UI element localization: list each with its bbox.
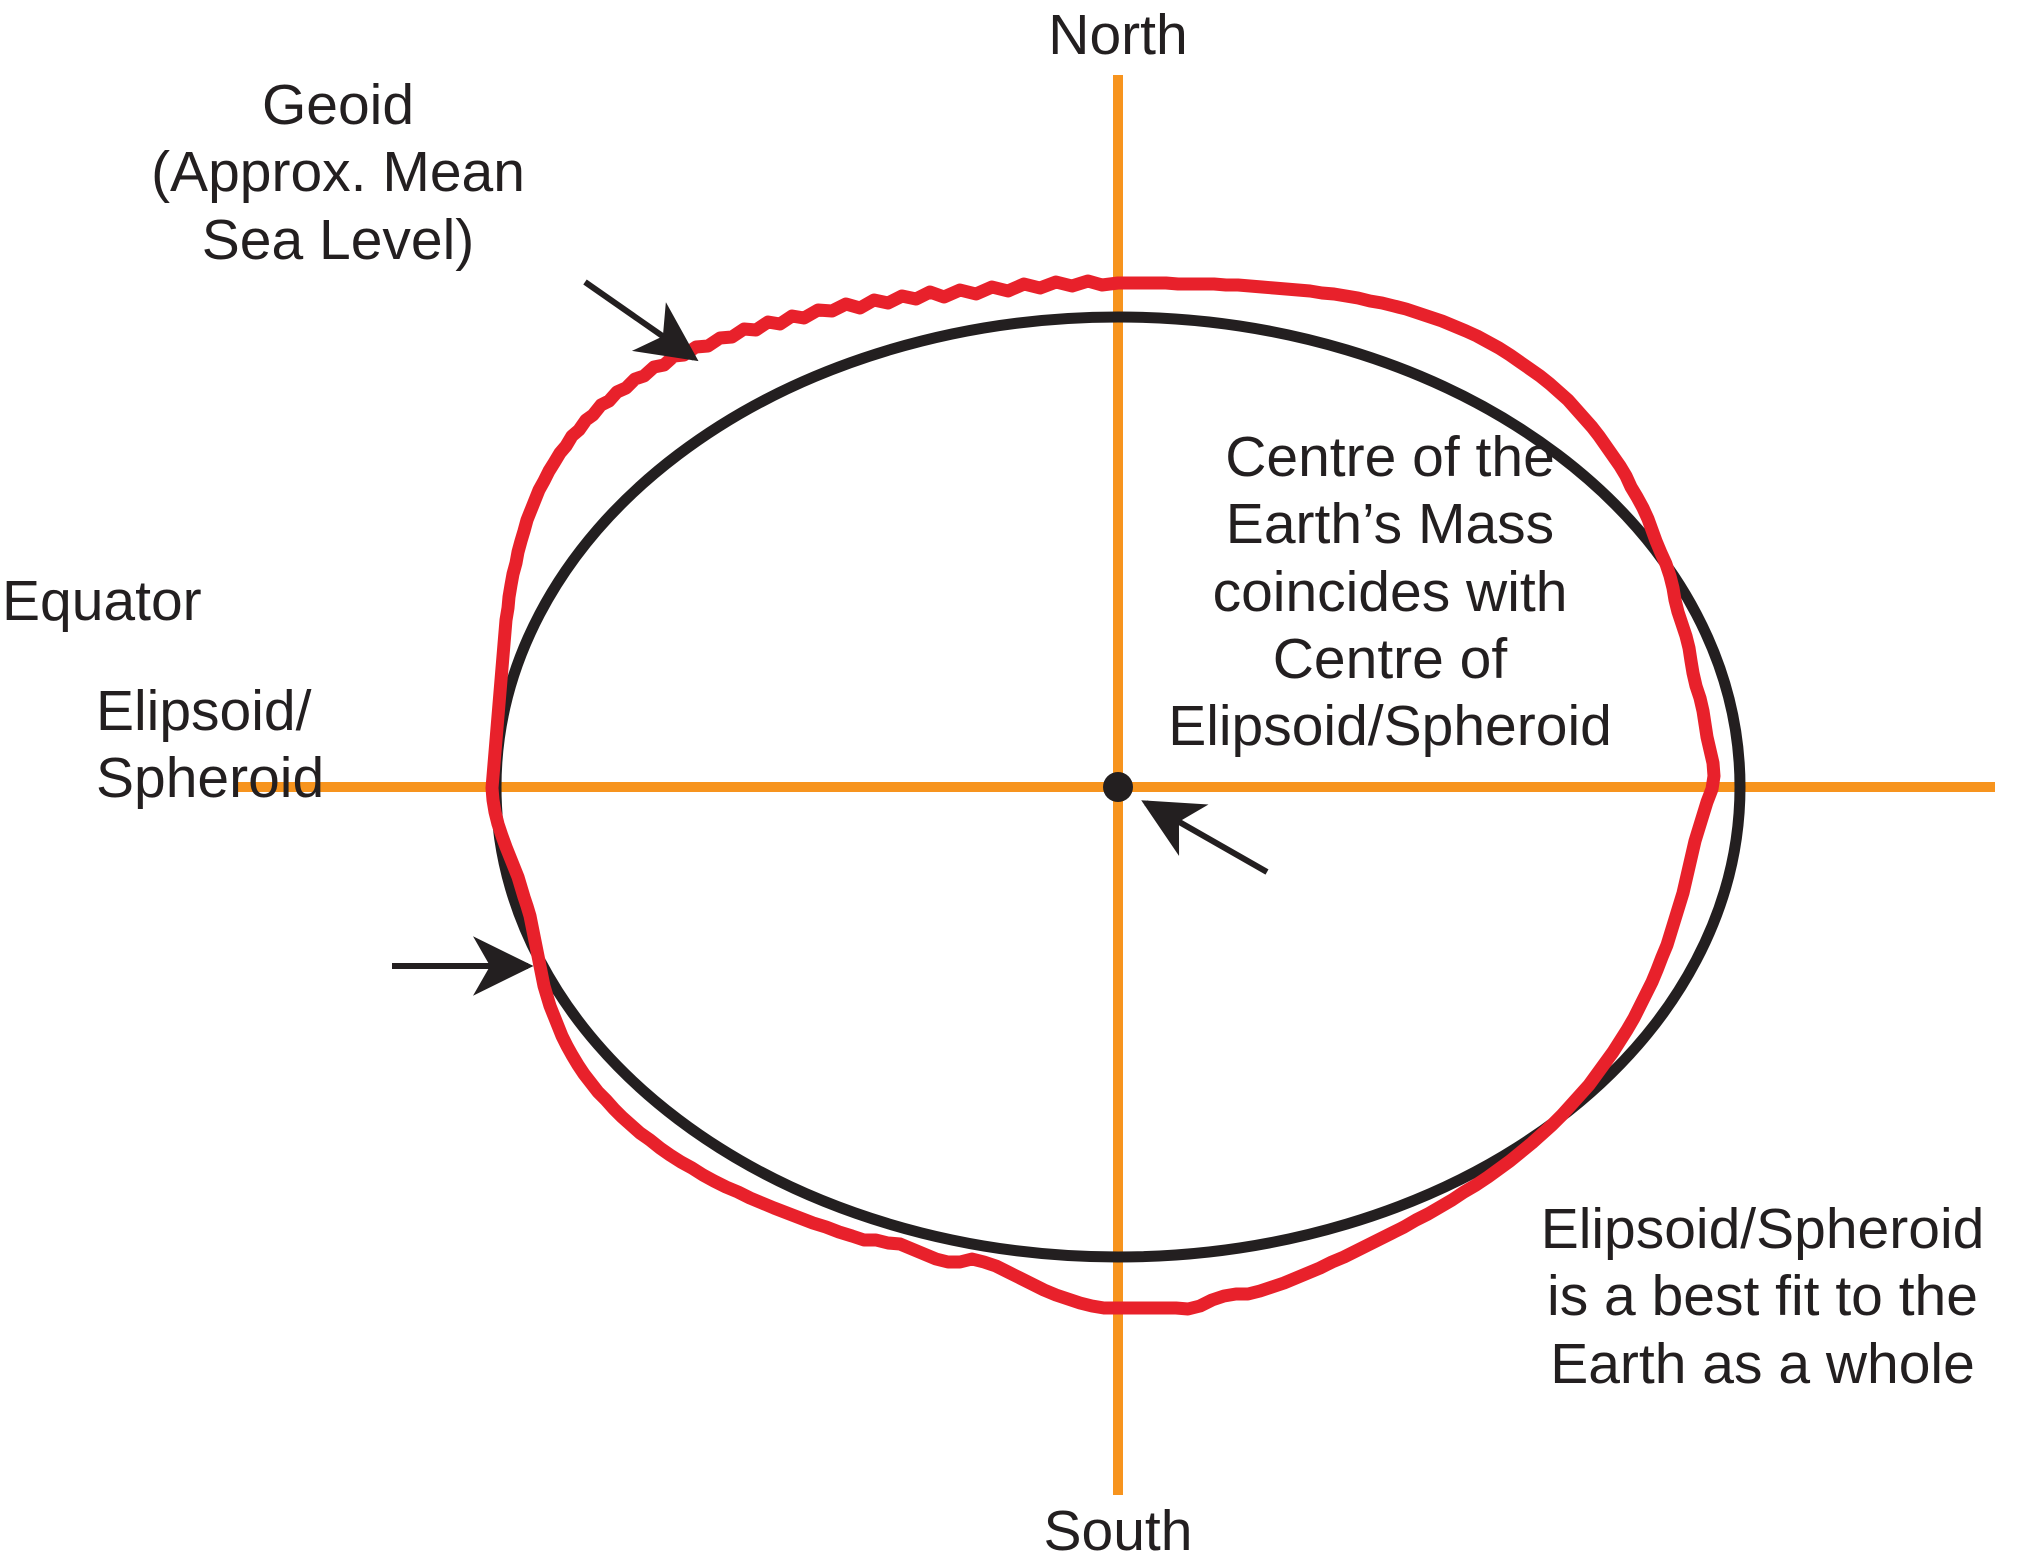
label-equator: Equator: [2, 568, 202, 635]
geoid-pointer-arrow: [585, 282, 694, 358]
diagram-canvas: North South Equator Geoid (Approx. Mean …: [0, 0, 2035, 1568]
label-south: South: [1044, 1498, 1193, 1565]
earth-centre-dot: [1103, 772, 1133, 802]
label-ellipsoid-spheroid: Elipsoid/ Spheroid: [96, 678, 396, 813]
label-centre-of-mass: Centre of the Earth’s Mass coincides wit…: [1130, 424, 1650, 760]
label-geoid: Geoid (Approx. Mean Sea Level): [128, 72, 548, 274]
label-north: North: [1048, 2, 1187, 69]
centre-pointer-arrow: [1146, 803, 1267, 872]
label-best-fit-note: Elipsoid/Spheroid is a best fit to the E…: [1490, 1196, 2035, 1398]
